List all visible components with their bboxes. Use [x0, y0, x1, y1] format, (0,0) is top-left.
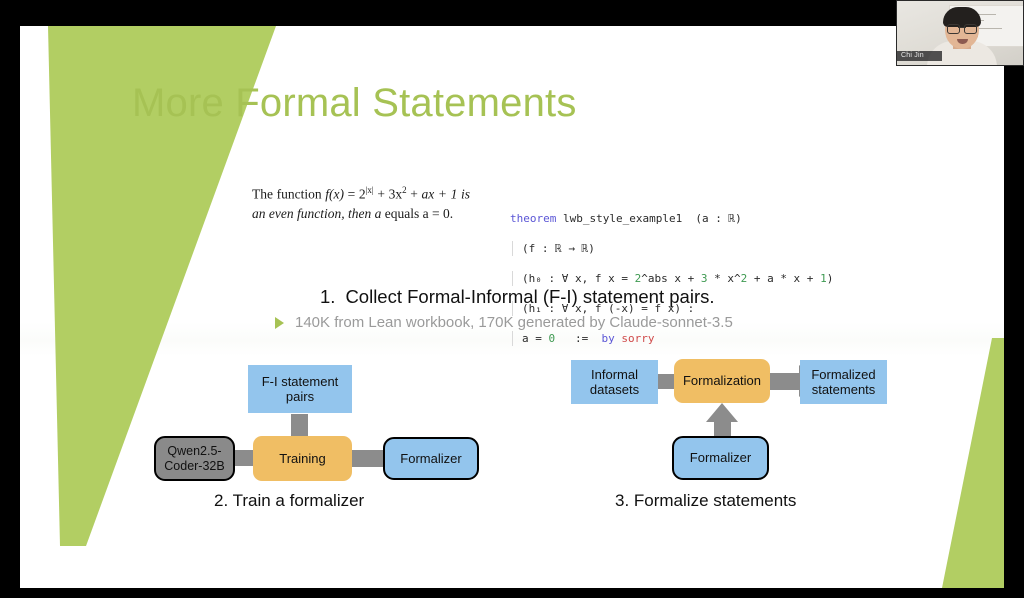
diagram2-box-formalizer: Formalizer: [383, 437, 479, 480]
informal-statement-text: The function f(x) = 2|x| + 3x2 + ax + 1 …: [252, 184, 470, 224]
diagram2-process-label: Training: [279, 451, 325, 466]
diagram2-output-label: Formalizer: [400, 451, 461, 466]
diagram3-box-formalized-statements: Formalized statements: [800, 360, 887, 404]
code-h0-d: + a * x +: [747, 272, 820, 285]
webcam-video-tile[interactable]: Chi Jin: [896, 0, 1024, 66]
presentation-slide: More Formal Statements The function f(x)…: [20, 26, 1004, 588]
diagram3-box-informal-datasets: Informal datasets: [571, 360, 658, 404]
step-1-bullet: 140K from Lean workbook, 170K generated …: [275, 314, 733, 331]
code-line-1: theorem lwb_style_example1 (a : ℝ): [510, 211, 833, 226]
math-exponent: |x|: [366, 185, 374, 195]
code-h0-e: ): [827, 272, 834, 285]
code-goal-b: :=: [555, 332, 601, 345]
code-keyword-theorem: theorem: [510, 212, 556, 225]
diagram3-caption: 3. Formalize statements: [615, 491, 796, 511]
diagram2-box-training: Training: [253, 436, 352, 481]
code-num-1: 1: [820, 272, 827, 285]
diagram3-process-label: Formalization: [683, 373, 761, 388]
step-1-number: 1.: [320, 286, 335, 307]
screen-root: More Formal Statements The function f(x)…: [0, 0, 1024, 598]
step-1-heading: 1.Collect Formal-Informal (F-I) statemen…: [320, 286, 715, 308]
diagram3-box-formalizer: Formalizer: [672, 436, 769, 480]
diagram2-box-base-model: Qwen2.5-Coder-32B: [154, 436, 235, 481]
code-line-3: (h₀ : ∀ x, f x = 2^abs x + 3 * x^2 + a *…: [512, 271, 833, 286]
diagram2-source-label: F-I statement pairs: [254, 374, 346, 405]
decorative-green-wedge-right: [884, 338, 1004, 588]
webcam-participant-name: Chi Jin: [897, 51, 942, 61]
triangle-bullet-icon: [275, 317, 284, 329]
code-line-1-rest: lwb_style_example1 (a : ℝ): [556, 212, 741, 225]
code-keyword-by: by: [601, 332, 614, 345]
code-h0-a: (h₀ : ∀ x, f x =: [522, 272, 635, 285]
diagram3-output-label: Formalized statements: [804, 367, 883, 398]
code-goal-a: a =: [522, 332, 549, 345]
diagram3-box-formalization: Formalization: [674, 359, 770, 403]
math-line1-pre: The function: [252, 187, 325, 202]
code-line-5: a = 0 := by sorry: [512, 331, 833, 346]
step-1-text: Collect Formal-Informal (F-I) statement …: [345, 286, 714, 307]
diagram2-caption: 2. Train a formalizer: [214, 491, 364, 511]
math-tail: +: [407, 187, 418, 202]
glasses-icon: [947, 24, 977, 32]
math-fx: f(x): [325, 187, 344, 202]
code-h0-b: ^abs x +: [641, 272, 701, 285]
diagram2-model-label: Qwen2.5-Coder-32B: [159, 444, 230, 474]
code-line-2: (f : ℝ → ℝ): [512, 241, 833, 256]
diagram3-tool-label: Formalizer: [690, 450, 751, 465]
code-h0-c: * x^: [707, 272, 740, 285]
step-1-bullet-text: 140K from Lean workbook, 170K generated …: [295, 314, 733, 331]
code-sorry: sorry: [615, 332, 655, 345]
math-plus: + 3x: [374, 187, 402, 202]
math-line3: equals a = 0.: [385, 206, 453, 221]
diagram3-input-label: Informal datasets: [575, 367, 654, 398]
diagram2-box-fi-statement-pairs: F-I statement pairs: [248, 365, 352, 413]
slide-title: More Formal Statements: [132, 81, 577, 126]
math-eq: = 2: [344, 187, 366, 202]
